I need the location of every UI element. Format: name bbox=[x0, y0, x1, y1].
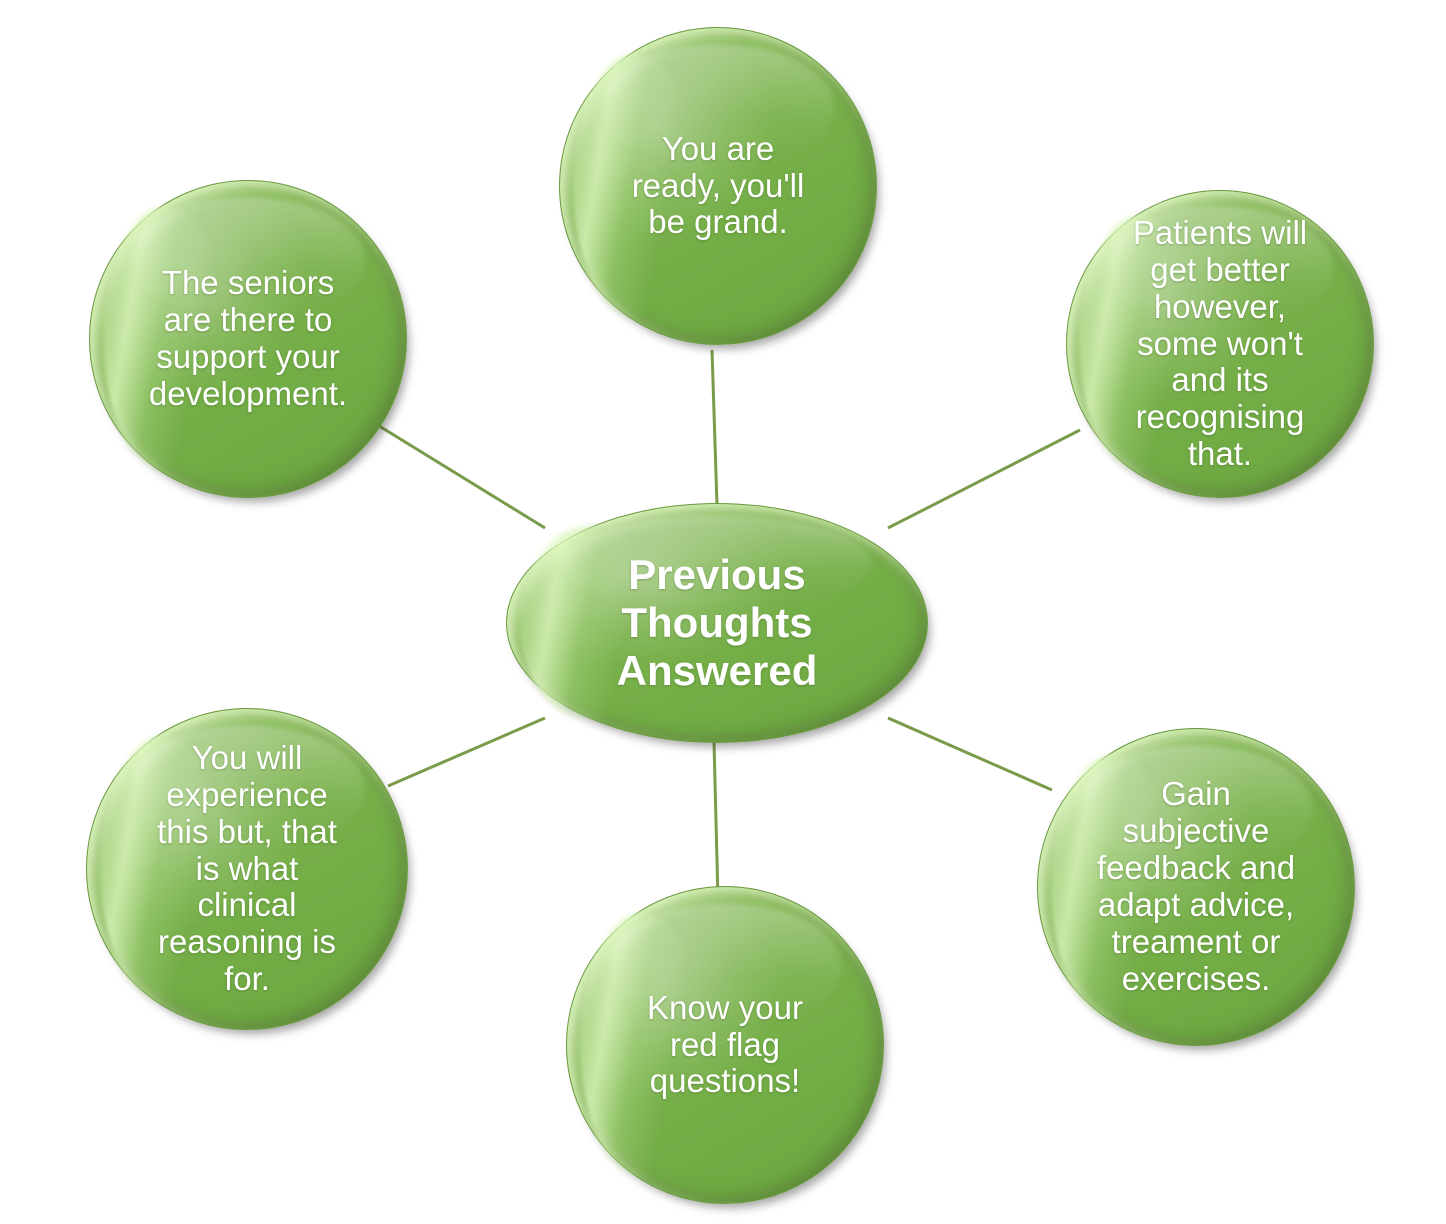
node-top-left[interactable]: The seniors are there to support your de… bbox=[89, 180, 407, 498]
node-bottom[interactable]: Know your red flag questions! bbox=[566, 886, 884, 1204]
node-bottom-left[interactable]: You will experience this but, that is wh… bbox=[86, 708, 408, 1030]
node-bottom-right[interactable]: Gain subjective feedback and adapt advic… bbox=[1037, 728, 1355, 1046]
node-bottom-label: Know your red flag questions! bbox=[602, 990, 848, 1101]
node-top-left-label: The seniors are there to support your de… bbox=[125, 265, 371, 413]
node-top-right[interactable]: Patients will get better however, some w… bbox=[1066, 190, 1374, 498]
node-top-label: You are ready, you'll be grand. bbox=[595, 131, 841, 242]
connector-center-to-top-left bbox=[376, 424, 545, 528]
node-center-label: Previous Thoughts Answered bbox=[536, 551, 897, 695]
node-bottom-right-label: Gain subjective feedback and adapt advic… bbox=[1073, 776, 1319, 998]
connector-center-to-bottom-right bbox=[888, 718, 1052, 790]
node-center-hub[interactable]: Previous Thoughts Answered bbox=[506, 503, 928, 743]
node-bottom-left-label: You will experience this but, that is wh… bbox=[119, 740, 375, 999]
connector-center-to-bottom-left bbox=[388, 718, 545, 786]
node-top-right-label: Patients will get better however, some w… bbox=[1107, 215, 1333, 474]
diagram-canvas: The seniors are there to support your de… bbox=[0, 0, 1446, 1224]
connector-center-to-top-right bbox=[888, 430, 1080, 528]
node-top[interactable]: You are ready, you'll be grand. bbox=[559, 27, 877, 345]
connector-center-to-bottom bbox=[714, 742, 718, 900]
connector-center-to-top bbox=[712, 350, 717, 505]
